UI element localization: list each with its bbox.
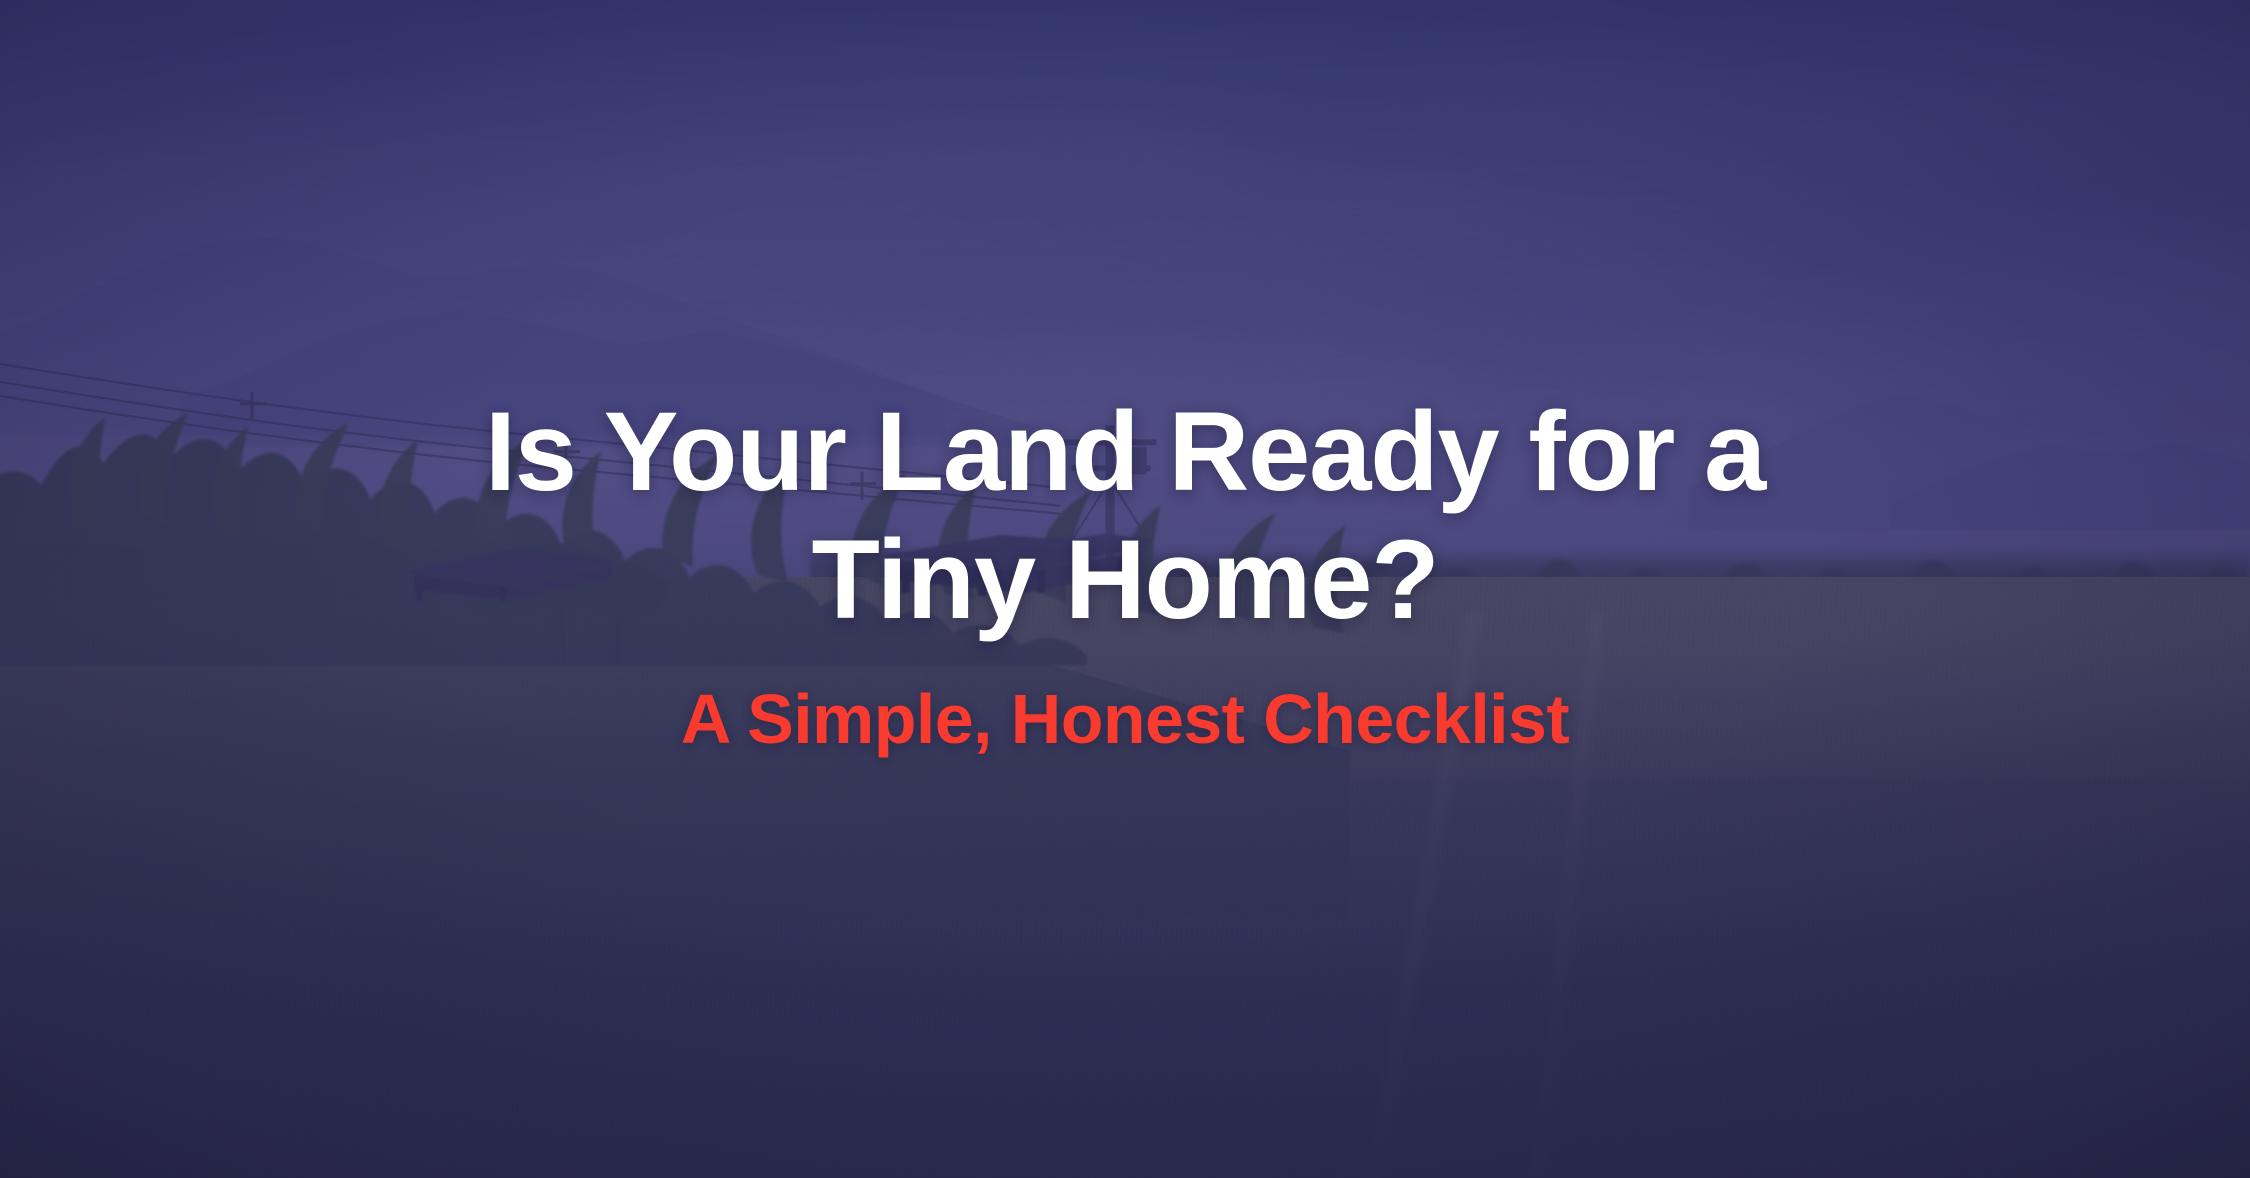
headline-line-1: Is Your Land Ready for a <box>485 389 1765 514</box>
banner-content: Is Your Land Ready for a Tiny Home? A Si… <box>0 0 2250 1178</box>
hero-banner: Is Your Land Ready for a Tiny Home? A Si… <box>0 0 2250 1178</box>
banner-subheadline: A Simple, Honest Checklist <box>681 681 1569 758</box>
banner-headline: Is Your Land Ready for a Tiny Home? <box>485 388 1765 643</box>
headline-line-2: Tiny Home? <box>812 517 1439 642</box>
